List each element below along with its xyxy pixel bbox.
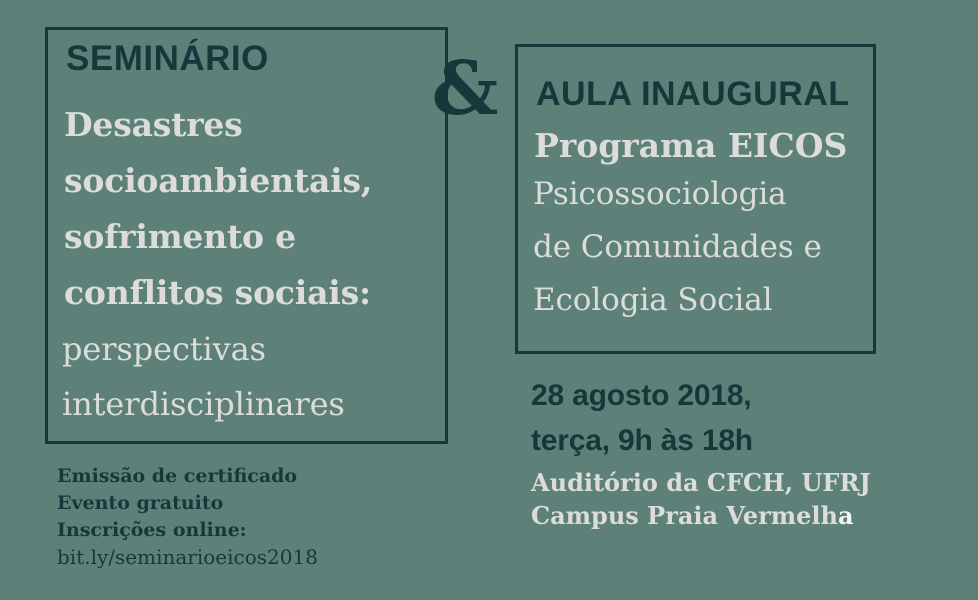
venue-campus-last-char: a: [838, 501, 854, 530]
info-line: Evento gratuito: [57, 490, 318, 517]
event-time-line: terça, 9h às 18h: [531, 418, 753, 463]
registration-link[interactable]: bit.ly/seminarioeicos2018: [57, 544, 318, 571]
info-line: Emissão de certificado: [57, 463, 318, 490]
program-description-line: Psicossociologia: [533, 168, 822, 221]
seminar-title-line: Desastres: [64, 97, 372, 153]
lecture-kicker: AULA INAUGURAL: [536, 74, 850, 114]
seminar-title: Desastres socioambientais, sofrimento e …: [64, 97, 372, 321]
event-venue-line: Auditório da CFCH, UFRJ: [531, 466, 871, 499]
ampersand-separator: &: [430, 52, 500, 126]
event-venue-line: Campus Praia Vermelha: [531, 499, 871, 532]
seminar-title-line: sofrimento e: [64, 209, 372, 265]
poster-canvas: & SEMINÁRIO Desastres socioambientais, s…: [0, 0, 978, 600]
event-venue: Auditório da CFCH, UFRJ Campus Praia Ver…: [531, 466, 871, 532]
program-name: Programa EICOS: [534, 124, 847, 168]
program-description-line: de Comunidades e: [533, 221, 822, 274]
seminar-subtitle-line: perspectivas: [62, 322, 345, 377]
seminar-subtitle-line: interdisciplinares: [62, 377, 345, 432]
event-date-line: 28 agosto 2018,: [531, 373, 753, 418]
seminar-kicker: SEMINÁRIO: [66, 39, 269, 79]
seminar-title-line: conflitos sociais:: [64, 265, 372, 321]
venue-campus-text: Campus Praia Vermelh: [531, 501, 838, 530]
registration-info: Emissão de certificado Evento gratuito I…: [57, 463, 318, 571]
seminar-subtitle: perspectivas interdisciplinares: [62, 322, 345, 432]
program-description: Psicossociologia de Comunidades e Ecolog…: [533, 168, 822, 327]
seminar-title-line: socioambientais,: [64, 153, 372, 209]
info-line: Inscrições online:: [57, 517, 318, 544]
program-description-line: Ecologia Social: [533, 274, 822, 327]
event-date: 28 agosto 2018, terça, 9h às 18h: [531, 373, 753, 463]
